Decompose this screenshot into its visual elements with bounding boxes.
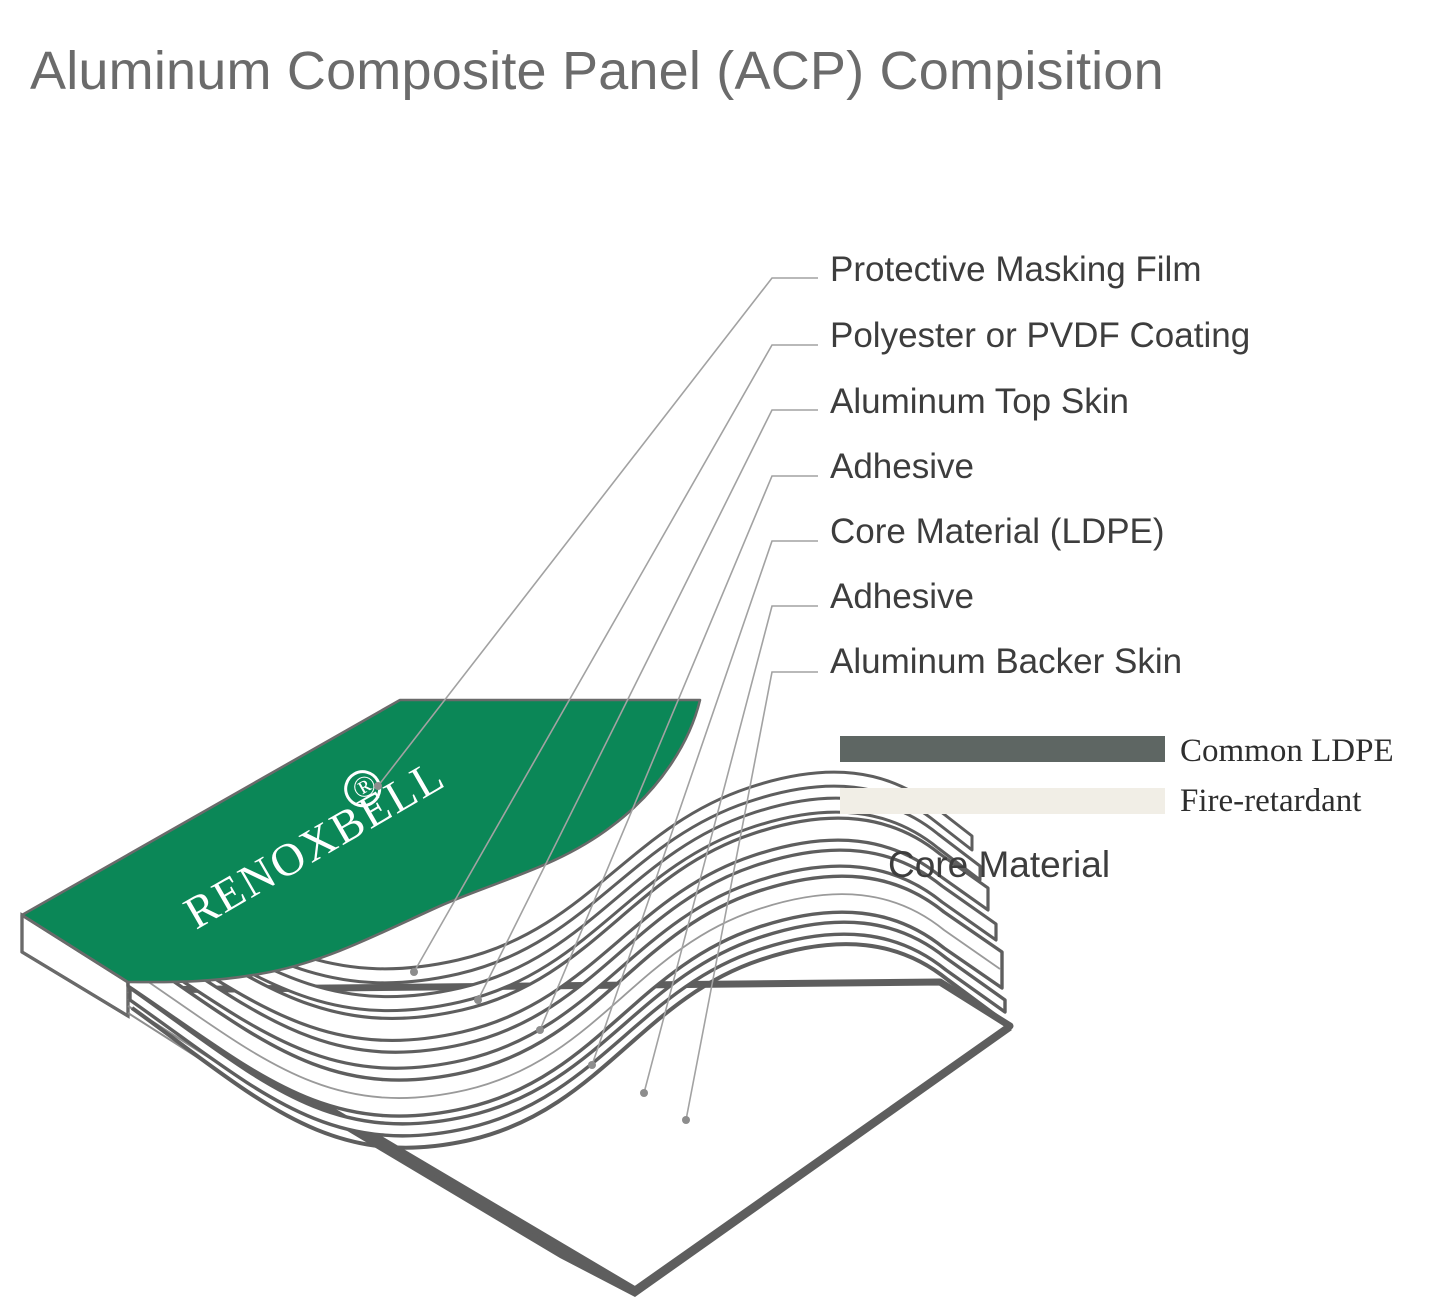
layer-label-aluminum-backer-skin: Aluminum Backer Skin [830,644,1182,679]
layer-label-protective-masking-film: Protective Masking Film [830,252,1201,287]
layer-label-adhesive-top: Adhesive [830,449,974,484]
layer-label-adhesive-bottom: Adhesive [830,579,974,614]
layer-label-core-material-ldpe: Core Material (LDPE) [830,514,1165,549]
legend-label-fire-retardant: Fire-retardant [1180,785,1361,818]
legend-swatch-fire-retardant [840,788,1165,814]
legend-swatch-common-ldpe [840,736,1165,762]
diagram-canvas: Aluminum Composite Panel (ACP) Compisiti… [0,0,1446,1309]
layer-label-polyester-or-pvdf-coating: Polyester or PVDF Coating [830,318,1250,353]
acp-exploded-illustration: RENOXBELL ® [0,0,1446,1309]
legend-caption-core-material: Core Material [888,846,1110,883]
legend-label-common-ldpe: Common LDPE [1180,735,1394,768]
layer-label-aluminum-top-skin: Aluminum Top Skin [830,384,1129,419]
